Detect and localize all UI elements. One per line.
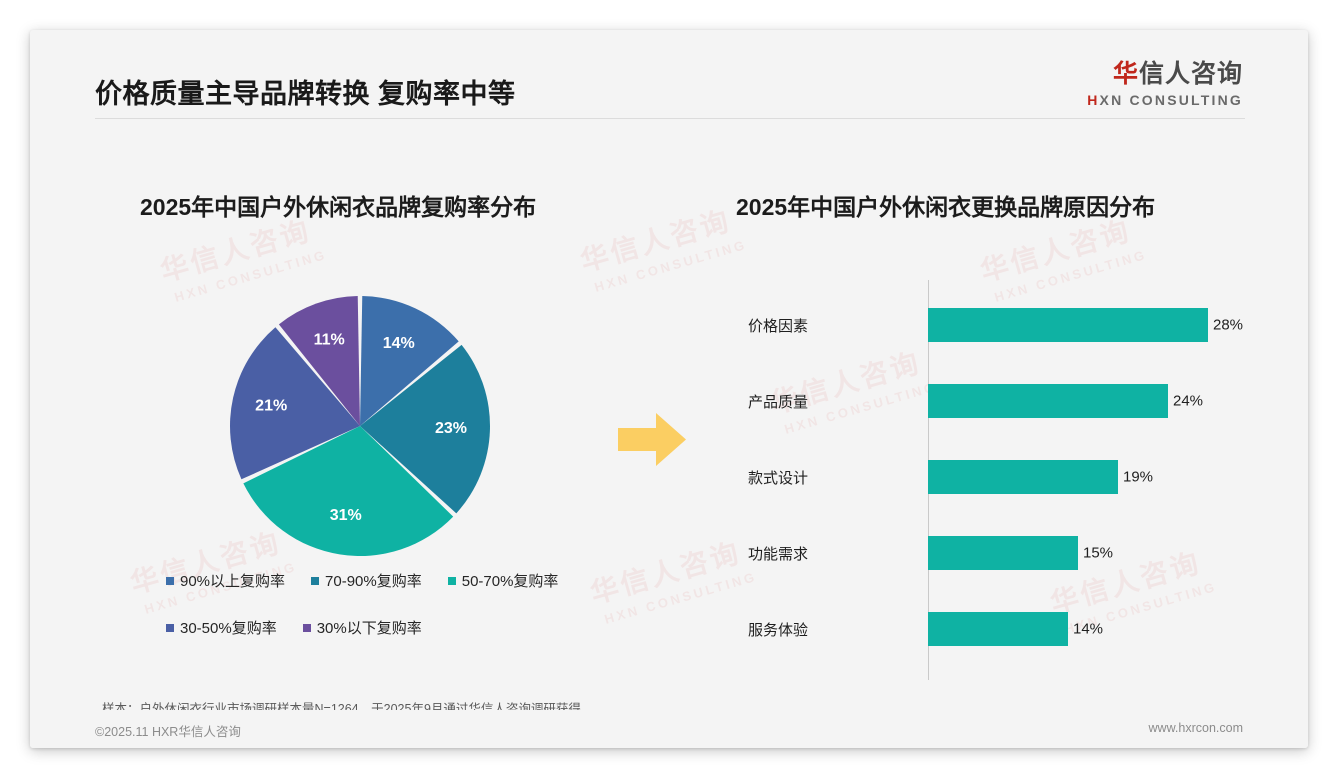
logo-english: HXN CONSULTING <box>1087 93 1243 107</box>
pie-slice-label: 23% <box>435 420 467 437</box>
bar-fill[interactable] <box>928 460 1118 494</box>
bar-track: 28% <box>928 308 1256 342</box>
pie-slice-label: 14% <box>383 335 415 352</box>
pie-legend-row: 90%以上复购率70-90%复购率50-70%复购率 <box>166 570 646 591</box>
legend-swatch-icon <box>166 577 174 585</box>
slide-header: 价格质量主导品牌转换 复购率中等 华信人咨询 HXN CONSULTING <box>30 30 1308 122</box>
pie-legend-label: 70-90%复购率 <box>325 570 422 591</box>
bar-value-label: 28% <box>1208 317 1243 334</box>
brand-logo: 华信人咨询 HXN CONSULTING <box>1087 62 1243 107</box>
bar-category-label: 价格因素 <box>736 315 912 336</box>
bar-row: 价格因素28% <box>736 308 1256 342</box>
slide-canvas: 华信人咨询 HXN CONSULTING 华信人咨询 HXN CONSULTIN… <box>30 30 1308 748</box>
pie-legend-label: 50-70%复购率 <box>462 570 559 591</box>
pie-legend-label: 30-50%复购率 <box>180 617 277 638</box>
bar-fill[interactable] <box>928 384 1168 418</box>
bar-row: 服务体验14% <box>736 612 1256 646</box>
bar-value-label: 15% <box>1078 545 1113 562</box>
footer-copyright: ©2025.11 HXR华信人咨询 <box>95 721 241 740</box>
bar-chart-panel: 2025年中国户外休闲衣更换品牌原因分布 价格因素28%产品质量24%款式设计1… <box>700 140 1270 680</box>
pie-legend-item[interactable]: 50-70%复购率 <box>448 570 559 591</box>
pie-legend: 90%以上复购率70-90%复购率50-70%复购率 30-50%复购率30%以… <box>166 570 646 664</box>
pie-chart-panel: 2025年中国户外休闲衣品牌复购率分布 14%23%31%21%11% 90%以… <box>70 140 680 680</box>
flow-arrow-right-icon <box>618 413 686 466</box>
bar-track: 24% <box>928 384 1256 418</box>
pie-chart: 14%23%31%21%11% <box>226 292 494 560</box>
logo-chinese-accent: 华 <box>1113 60 1139 88</box>
slide-stage: 华信人咨询 HXN CONSULTING 华信人咨询 HXN CONSULTIN… <box>0 0 1340 780</box>
logo-chinese-rest: 信人咨询 <box>1139 60 1243 88</box>
legend-swatch-icon <box>448 577 456 585</box>
bar-row: 功能需求15% <box>736 536 1256 570</box>
pie-legend-item[interactable]: 70-90%复购率 <box>311 570 422 591</box>
slide-footer: ©2025.11 HXR华信人咨询 www.hxrcon.com <box>30 710 1308 748</box>
pie-chart-title: 2025年中国户外休闲衣品牌复购率分布 <box>140 188 536 222</box>
pie-slice-label: 11% <box>314 332 345 349</box>
pie-legend-item[interactable]: 30%以下复购率 <box>303 617 422 638</box>
bar-track: 14% <box>928 612 1256 646</box>
legend-swatch-icon <box>303 624 311 632</box>
bar-category-label: 产品质量 <box>736 391 912 412</box>
bar-category-label: 款式设计 <box>736 467 912 488</box>
pie-slice-label: 21% <box>255 397 287 414</box>
bar-fill[interactable] <box>928 308 1208 342</box>
pie-legend-label: 30%以下复购率 <box>317 617 422 638</box>
page-title: 价格质量主导品牌转换 复购率中等 <box>95 72 516 111</box>
bar-value-label: 24% <box>1168 393 1203 410</box>
logo-english-accent: H <box>1087 92 1099 108</box>
bar-row: 产品质量24% <box>736 384 1256 418</box>
pie-legend-label: 90%以上复购率 <box>180 570 285 591</box>
bar-fill[interactable] <box>928 612 1068 646</box>
bar-value-label: 14% <box>1068 621 1103 638</box>
bar-track: 15% <box>928 536 1256 570</box>
logo-english-rest: XN CONSULTING <box>1100 92 1243 108</box>
pie-legend-item[interactable]: 30-50%复购率 <box>166 617 277 638</box>
footer-website[interactable]: www.hxrcon.com <box>1149 721 1243 735</box>
legend-swatch-icon <box>166 624 174 632</box>
bar-category-label: 服务体验 <box>736 619 912 640</box>
bar-chart-title: 2025年中国户外休闲衣更换品牌原因分布 <box>736 188 1155 222</box>
pie-legend-row: 30-50%复购率30%以下复购率 <box>166 617 646 638</box>
bar-fill[interactable] <box>928 536 1078 570</box>
pie-slice-label: 31% <box>330 507 362 524</box>
bar-value-label: 19% <box>1118 469 1153 486</box>
header-divider <box>95 118 1245 119</box>
legend-swatch-icon <box>311 577 319 585</box>
logo-chinese: 华信人咨询 <box>1087 62 1243 87</box>
bar-track: 19% <box>928 460 1256 494</box>
bar-row: 款式设计19% <box>736 460 1256 494</box>
pie-chart-svg: 14%23%31%21%11% <box>226 292 494 560</box>
bar-category-label: 功能需求 <box>736 543 912 564</box>
bar-chart: 价格因素28%产品质量24%款式设计19%功能需求15%服务体验14% <box>736 280 1256 680</box>
pie-legend-item[interactable]: 90%以上复购率 <box>166 570 285 591</box>
